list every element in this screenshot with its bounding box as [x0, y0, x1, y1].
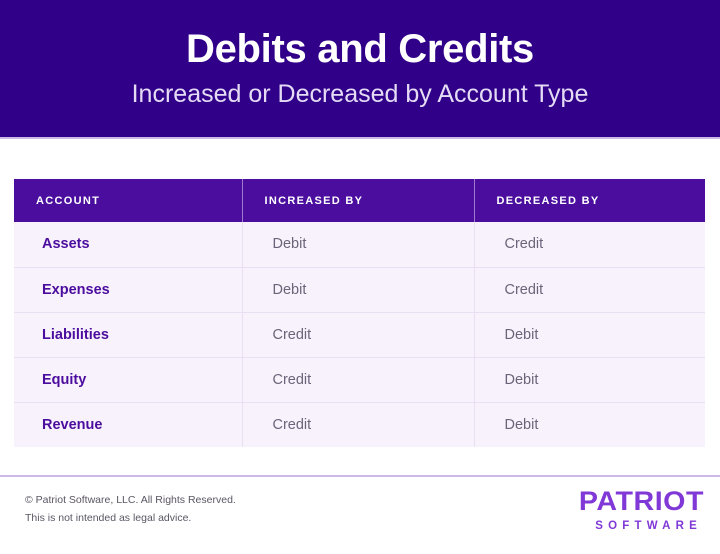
cell-increased-by: Debit — [242, 222, 474, 267]
cell-decreased-by: Debit — [474, 402, 705, 447]
cell-account: Liabilities — [14, 312, 242, 357]
cell-account: Revenue — [14, 402, 242, 447]
brand-subtitle: SOFTWARE — [586, 521, 704, 533]
cell-increased-by: Credit — [242, 312, 474, 357]
column-header-decreased-by: DECREASED BY — [474, 179, 705, 222]
disclaimer-line: This is not intended as legal advice. — [25, 509, 236, 527]
patriot-software-logo: PATRIOT SOFTWARE — [586, 488, 704, 533]
cell-decreased-by: Debit — [474, 312, 705, 357]
cell-account: Equity — [14, 357, 242, 402]
cell-increased-by: Credit — [242, 357, 474, 402]
table-row: Equity Credit Debit — [14, 357, 705, 402]
column-header-account: ACCOUNT — [14, 179, 242, 222]
table-row: Assets Debit Credit — [14, 222, 705, 267]
cell-increased-by: Debit — [242, 267, 474, 312]
footer: © Patriot Software, LLC. All Rights Rese… — [0, 477, 720, 554]
debits-credits-table: ACCOUNT INCREASED BY DECREASED BY Assets… — [14, 179, 705, 447]
cell-decreased-by: Debit — [474, 357, 705, 402]
table-header-row: ACCOUNT INCREASED BY DECREASED BY — [14, 179, 705, 222]
table-body: Assets Debit Credit Expenses Debit Credi… — [14, 222, 705, 447]
table-row: Revenue Credit Debit — [14, 402, 705, 447]
brand-name: PATRIOT — [579, 488, 704, 515]
footer-legal-text: © Patriot Software, LLC. All Rights Rese… — [25, 491, 236, 528]
header-band: Debits and Credits Increased or Decrease… — [0, 0, 720, 139]
page-title: Debits and Credits — [186, 28, 534, 70]
table-container: ACCOUNT INCREASED BY DECREASED BY Assets… — [14, 179, 705, 447]
table-row: Expenses Debit Credit — [14, 267, 705, 312]
page-subtitle: Increased or Decreased by Account Type — [132, 79, 589, 109]
copyright-line: © Patriot Software, LLC. All Rights Rese… — [25, 491, 236, 509]
column-header-increased-by: INCREASED BY — [242, 179, 474, 222]
table-header: ACCOUNT INCREASED BY DECREASED BY — [14, 179, 705, 222]
infographic-root: Debits and Credits Increased or Decrease… — [0, 0, 720, 554]
table-row: Liabilities Credit Debit — [14, 312, 705, 357]
cell-decreased-by: Credit — [474, 222, 705, 267]
cell-account: Assets — [14, 222, 242, 267]
cell-increased-by: Credit — [242, 402, 474, 447]
cell-decreased-by: Credit — [474, 267, 705, 312]
cell-account: Expenses — [14, 267, 242, 312]
